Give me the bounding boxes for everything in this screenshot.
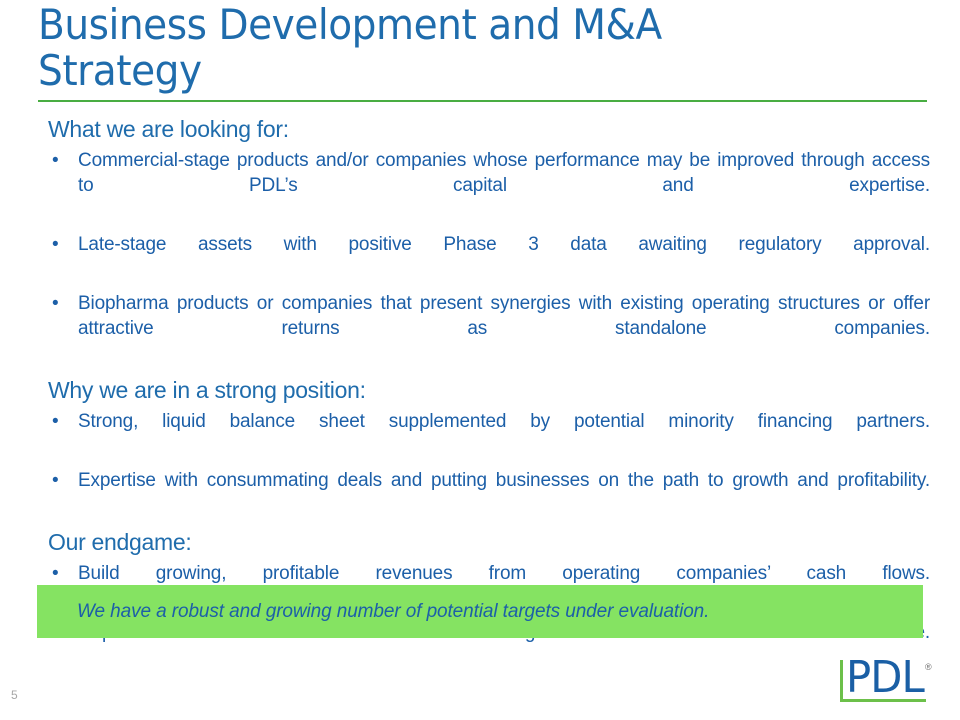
section-heading: Why we are in a strong position:	[48, 375, 930, 405]
bullet-dot-icon: •	[52, 468, 59, 493]
list-item: • Biopharma products or companies that p…	[40, 291, 930, 366]
bullet-dot-icon: •	[52, 148, 59, 173]
list-item-text: Strong, liquid balance sheet supplemente…	[78, 409, 930, 459]
logo-left-bar	[840, 660, 843, 702]
list-item-text: Biopharma products or companies that pre…	[78, 291, 930, 366]
page-number: 5	[11, 688, 18, 702]
section-what-we-are-looking-for: What we are looking for: • Commercial-st…	[40, 114, 930, 366]
registered-trademark-icon: ®	[925, 662, 932, 672]
bullet-dot-icon: •	[52, 291, 59, 316]
list-item: • Strong, liquid balance sheet supplemen…	[40, 409, 930, 459]
slide: Business Development and M&A Strategy Wh…	[0, 0, 960, 720]
highlight-callout-box: We have a robust and growing number of p…	[37, 585, 923, 638]
logo-wordmark: PDL	[846, 654, 924, 702]
section-heading: Our endgame:	[48, 527, 930, 557]
bullet-list: • Strong, liquid balance sheet supplemen…	[40, 409, 930, 518]
bullet-dot-icon: •	[52, 409, 59, 434]
list-item-text: Expertise with consummating deals and pu…	[78, 468, 930, 518]
callout-text: We have a robust and growing number of p…	[77, 600, 709, 624]
page-title: Business Development and M&A Strategy	[38, 2, 866, 94]
title-block: Business Development and M&A Strategy	[38, 2, 928, 94]
title-underline-rule	[38, 100, 927, 102]
list-item-text: Commercial-stage products and/or compani…	[78, 148, 930, 223]
bullet-dot-icon: •	[52, 232, 59, 257]
bullet-list: • Commercial-stage products and/or compa…	[40, 148, 930, 366]
list-item: • Commercial-stage products and/or compa…	[40, 148, 930, 223]
list-item-text: Late-stage assets with positive Phase 3 …	[78, 232, 930, 282]
bullet-dot-icon: •	[52, 561, 59, 586]
pdl-logo: PDL ®	[840, 658, 936, 706]
list-item: • Late-stage assets with positive Phase …	[40, 232, 930, 282]
section-why-we-are-in-a-strong-position: Why we are in a strong position: • Stron…	[40, 375, 930, 518]
section-heading: What we are looking for:	[48, 114, 930, 144]
list-item: • Expertise with consummating deals and …	[40, 468, 930, 518]
